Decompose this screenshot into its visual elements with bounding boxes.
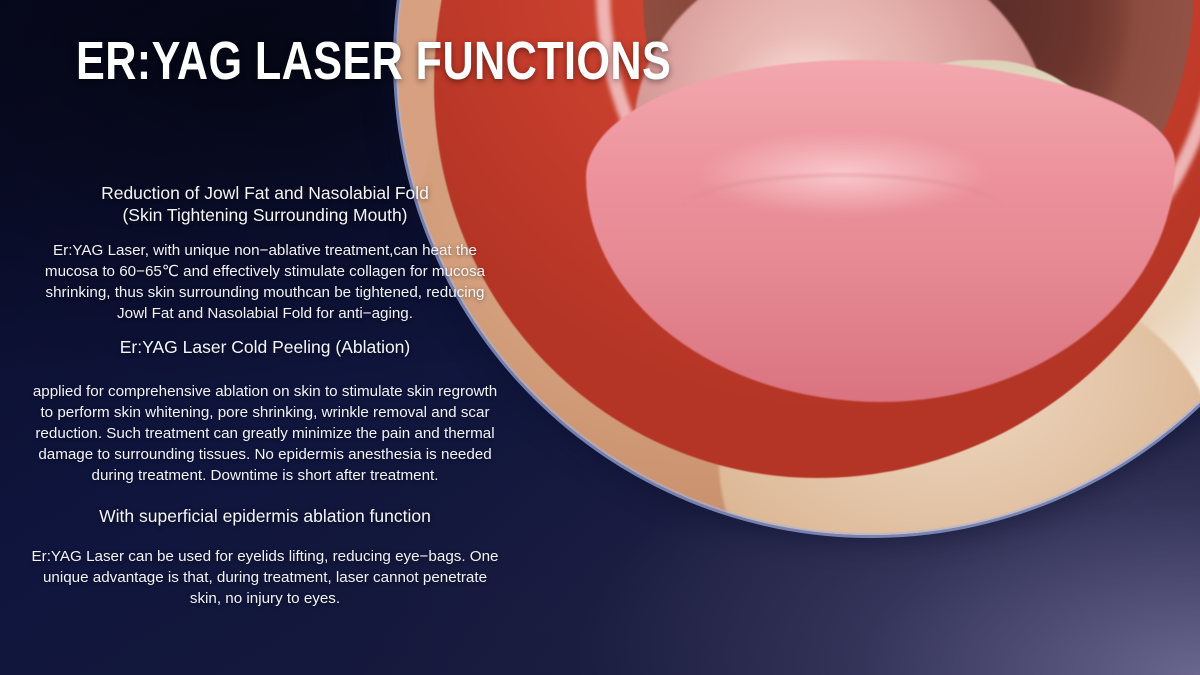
lower-lip-crease — [681, 174, 1004, 250]
block-body: applied for comprehensive ablation on sk… — [30, 382, 500, 487]
block-heading: Reduction of Jowl Fat and Nasolabial Fol… — [30, 182, 500, 227]
function-block-epidermis-ablation: With superficial epidermis ablation func… — [30, 505, 500, 610]
function-block-cold-peeling: Er:YAG Laser Cold Peeling (Ablation) app… — [30, 336, 500, 487]
page-title: ER:YAG LASER FUNCTIONS — [76, 33, 671, 90]
block-heading: With superficial epidermis ablation func… — [30, 505, 500, 527]
block-body: Er:YAG Laser, with unique non−ablative t… — [30, 241, 500, 325]
slide-root: ER:YAG LASER FUNCTIONS Reduction of Jowl… — [0, 0, 1200, 675]
block-body: Er:YAG Laser can be used for eyelids lif… — [30, 547, 500, 610]
function-block-jowl-fat: Reduction of Jowl Fat and Nasolabial Fol… — [30, 182, 500, 325]
block-heading: Er:YAG Laser Cold Peeling (Ablation) — [30, 336, 500, 358]
